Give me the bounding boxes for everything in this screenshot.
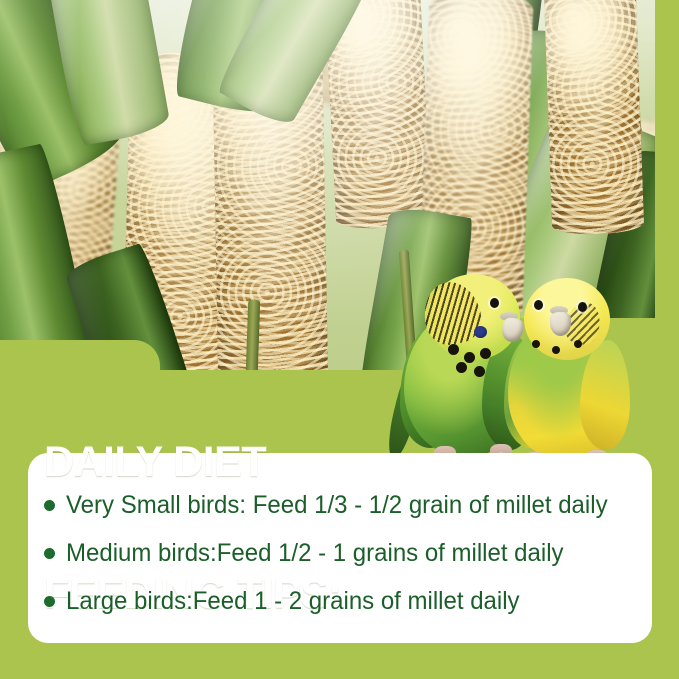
tip-text-medium-birds: Medium birds:Feed 1/2 - 1 grains of mill… bbox=[66, 539, 564, 567]
bullet-icon bbox=[44, 548, 55, 559]
bullet-icon bbox=[44, 500, 55, 511]
yellow-budgie-throat-spot-2 bbox=[552, 346, 560, 354]
green-budgie-throat-spot-3 bbox=[480, 348, 491, 359]
yellow-budgie-throat-spot-1 bbox=[532, 340, 540, 348]
green-budgie-eye bbox=[490, 298, 499, 308]
tip-text-very-small-birds: Very Small birds: Feed 1/3 - 1/2 grain o… bbox=[66, 491, 608, 519]
list-item: Very Small birds: Feed 1/3 - 1/2 grain o… bbox=[44, 481, 644, 529]
green-right-margin-strip bbox=[655, 0, 679, 679]
feeding-tips-list: Very Small birds: Feed 1/3 - 1/2 grain o… bbox=[44, 481, 644, 625]
page-title-line-1: DAILY DIET bbox=[44, 440, 341, 484]
green-budgie-throat-spot-2 bbox=[464, 352, 475, 363]
bullet-icon bbox=[44, 596, 55, 607]
green-budgie-throat-spot-1 bbox=[448, 344, 459, 355]
green-budgie-throat-spot-4 bbox=[456, 362, 467, 373]
green-budgie-throat-spot-5 bbox=[474, 366, 485, 377]
daily-diet-feeding-tips-poster: DAILY DIET FEEDING TIPS: Very Small bird… bbox=[0, 0, 679, 679]
millet-head-right-edge bbox=[544, 0, 645, 236]
list-item: Medium birds:Feed 1/2 - 1 grains of mill… bbox=[44, 529, 644, 577]
list-item: Large birds:Feed 1 - 2 grains of millet … bbox=[44, 577, 644, 625]
yellow-budgie-throat-spot-3 bbox=[574, 340, 582, 348]
tip-text-large-birds: Large birds:Feed 1 - 2 grains of millet … bbox=[66, 587, 520, 615]
budgerigar-pair-illustration bbox=[398, 268, 638, 466]
yellow-budgie-eye-right bbox=[578, 302, 587, 312]
green-budgie-cheek-patch bbox=[474, 326, 487, 338]
yellow-budgie-eye-left bbox=[534, 300, 543, 310]
